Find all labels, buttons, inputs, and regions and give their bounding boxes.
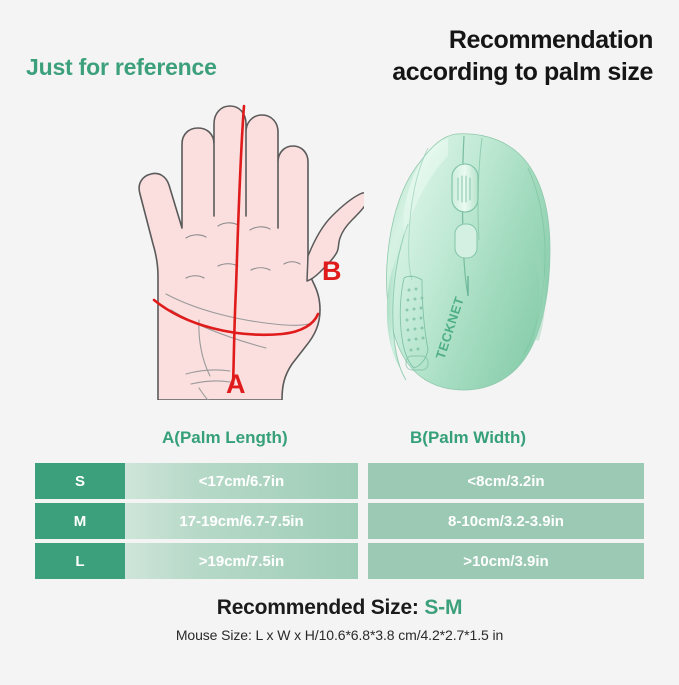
mouse-size-note: Mouse Size: L x W x H/10.6*6.8*3.8 cm/4.… [0,627,679,643]
dpi-button[interactable] [455,224,477,258]
palm-length-value-l: >19cm/7.5in [125,543,358,579]
page-title: Recommendation according to palm size [343,24,653,88]
size-label-m: M [35,503,125,539]
label-a: A [226,369,246,399]
page-title-line-1: Recommendation [343,24,653,56]
footer: Recommended Size: S-M Mouse Size: L x W … [0,596,679,643]
recommended-size-value: S-M [424,596,462,619]
palm-width-value-s: <8cm/3.2in [368,463,644,499]
size-guide-page: Just for reference Recommendation accord… [0,0,679,685]
palm-width-value-l: >10cm/3.9in [368,543,644,579]
table-header-row: A(Palm Length) B(Palm Width) [0,428,679,454]
column-header-palm-length: A(Palm Length) [162,428,288,448]
scroll-wheel[interactable] [452,164,478,212]
table-body: S <17cm/6.7in <8cm/3.2in M 17-19cm/6.7-7… [0,463,679,579]
table-row: M 17-19cm/6.7-7.5in 8-10cm/3.2-3.9in [35,503,644,539]
size-label-l: L [35,543,125,579]
hand-palm-diagram: A B [96,88,364,400]
hand-silhouette [139,106,364,400]
recommended-size-prefix: Recommended Size: [217,596,425,619]
reference-note: Just for reference [26,54,217,81]
column-header-palm-width: B(Palm Width) [410,428,526,448]
column-gap [358,503,368,539]
palm-length-value-s: <17cm/6.7in [125,463,358,499]
palm-length-value-m: 17-19cm/6.7-7.5in [125,503,358,539]
column-gap [358,463,368,499]
label-b: B [322,256,342,286]
recommended-size: Recommended Size: S-M [0,596,679,620]
table-row: L >19cm/7.5in >10cm/3.9in [35,543,644,579]
palm-width-value-m: 8-10cm/3.2-3.9in [368,503,644,539]
table-row: S <17cm/6.7in <8cm/3.2in [35,463,644,499]
page-title-line-2: according to palm size [343,56,653,88]
size-label-s: S [35,463,125,499]
column-gap [358,543,368,579]
size-table: A(Palm Length) B(Palm Width) S <17cm/6.7… [0,428,679,579]
wireless-mouse-photo: TECKNET [378,128,574,396]
